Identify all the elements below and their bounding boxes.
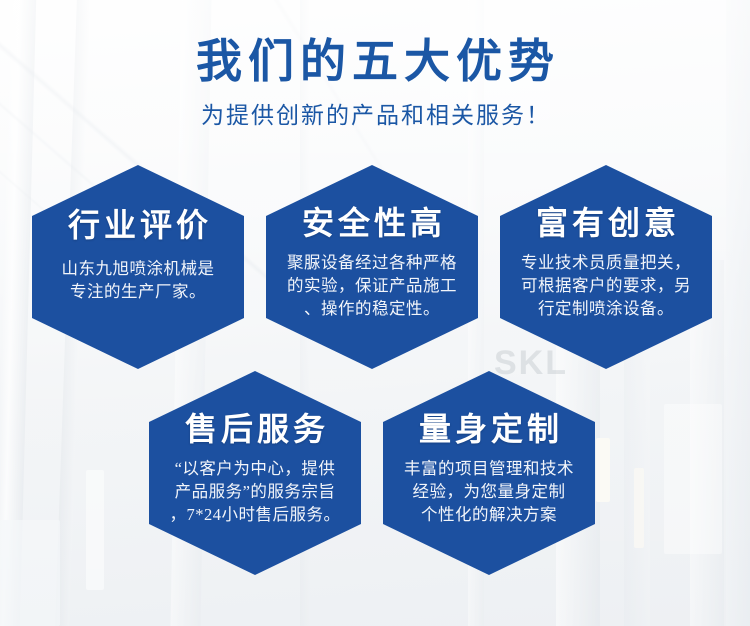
advantage-body: “以客户为中心，提供 产品服务”的服务宗旨 ，7*24小时售后服务。 [155,457,355,527]
page-title: 我们的五大优势 [0,38,750,86]
heading-block: 我们的五大优势 为提供创新的产品和相关服务！ [0,38,750,130]
advantage-body: 聚脲设备经过各种严格 的实验，保证产品施工 、操作的稳定性。 [272,251,472,321]
advantage-title: 安全性高 [272,207,472,241]
advantage-body: 专业技术员质量把关， 可根据客户的要求，另 行定制喷涂设备。 [506,251,706,321]
advantage-body: 丰富的项目管理和技术 经验，为您量身定制 个性化的解决方案 [389,457,589,527]
advantage-title: 量身定制 [389,413,589,447]
promotional-poster: SKL 我们的五大优势 为提供创新的产品和相关服务！ 行业评价 山东九旭喷涂机械… [0,0,750,626]
advantage-title: 富有创意 [506,207,706,241]
advantage-title: 售后服务 [155,413,355,447]
page-subtitle: 为提供创新的产品和相关服务！ [0,96,750,130]
advantage-title: 行业评价 [38,209,238,243]
advantage-body: 山东九旭喷涂机械是 专注的生产厂家。 [38,257,238,304]
